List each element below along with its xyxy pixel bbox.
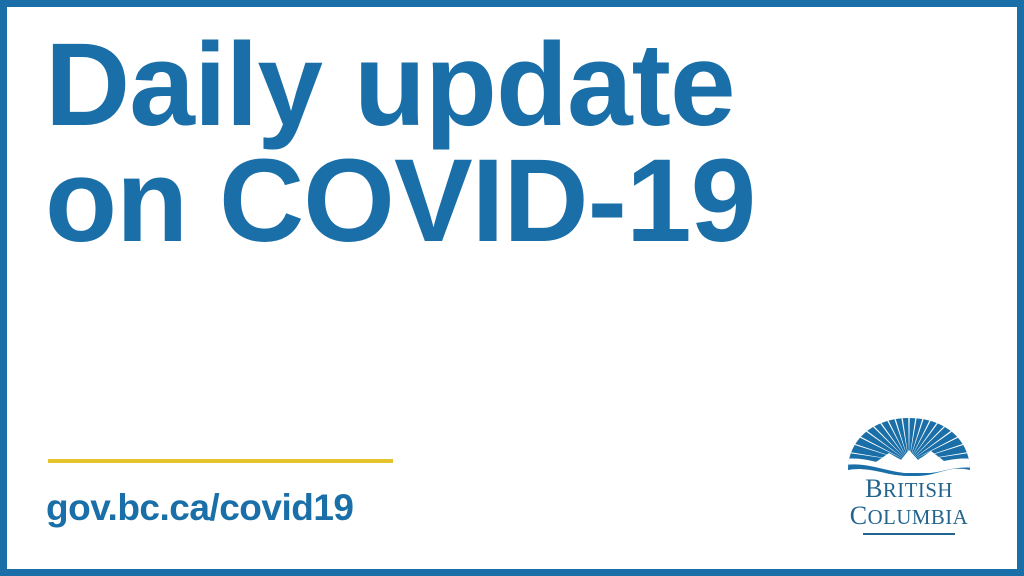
headline-line-1: Daily update	[45, 28, 875, 144]
announcement-card: Daily update on COVID-19 gov.bc.ca/covid…	[0, 0, 1024, 576]
bc-wordmark-line-1: BRITISH	[833, 476, 985, 502]
website-url-text: gov.bc.ca/covid19	[46, 487, 354, 529]
bc-wordmark-line-2-cap: C	[850, 501, 868, 530]
gold-divider-rule	[48, 459, 393, 463]
headline: Daily update on COVID-19	[45, 28, 875, 259]
british-columbia-logo: BRITISH COLUMBIA	[833, 414, 985, 532]
bc-sun-mountain-icon	[845, 414, 973, 476]
frame-border-left	[0, 0, 7, 576]
frame-border-right	[1017, 0, 1024, 576]
bc-wordmark-line-1-rest: RITISH	[883, 479, 953, 502]
bc-wordmark-line-2-rest: OLUMBIA	[868, 506, 969, 529]
frame-border-bottom	[0, 569, 1024, 576]
headline-line-2: on COVID-19	[45, 144, 875, 260]
frame-border-top	[0, 0, 1024, 7]
bc-wordmark: BRITISH COLUMBIA	[833, 476, 985, 529]
bc-wordmark-line-1-cap: B	[865, 474, 883, 503]
bc-wordmark-underline	[863, 533, 955, 535]
bc-wordmark-line-2: COLUMBIA	[833, 503, 985, 529]
